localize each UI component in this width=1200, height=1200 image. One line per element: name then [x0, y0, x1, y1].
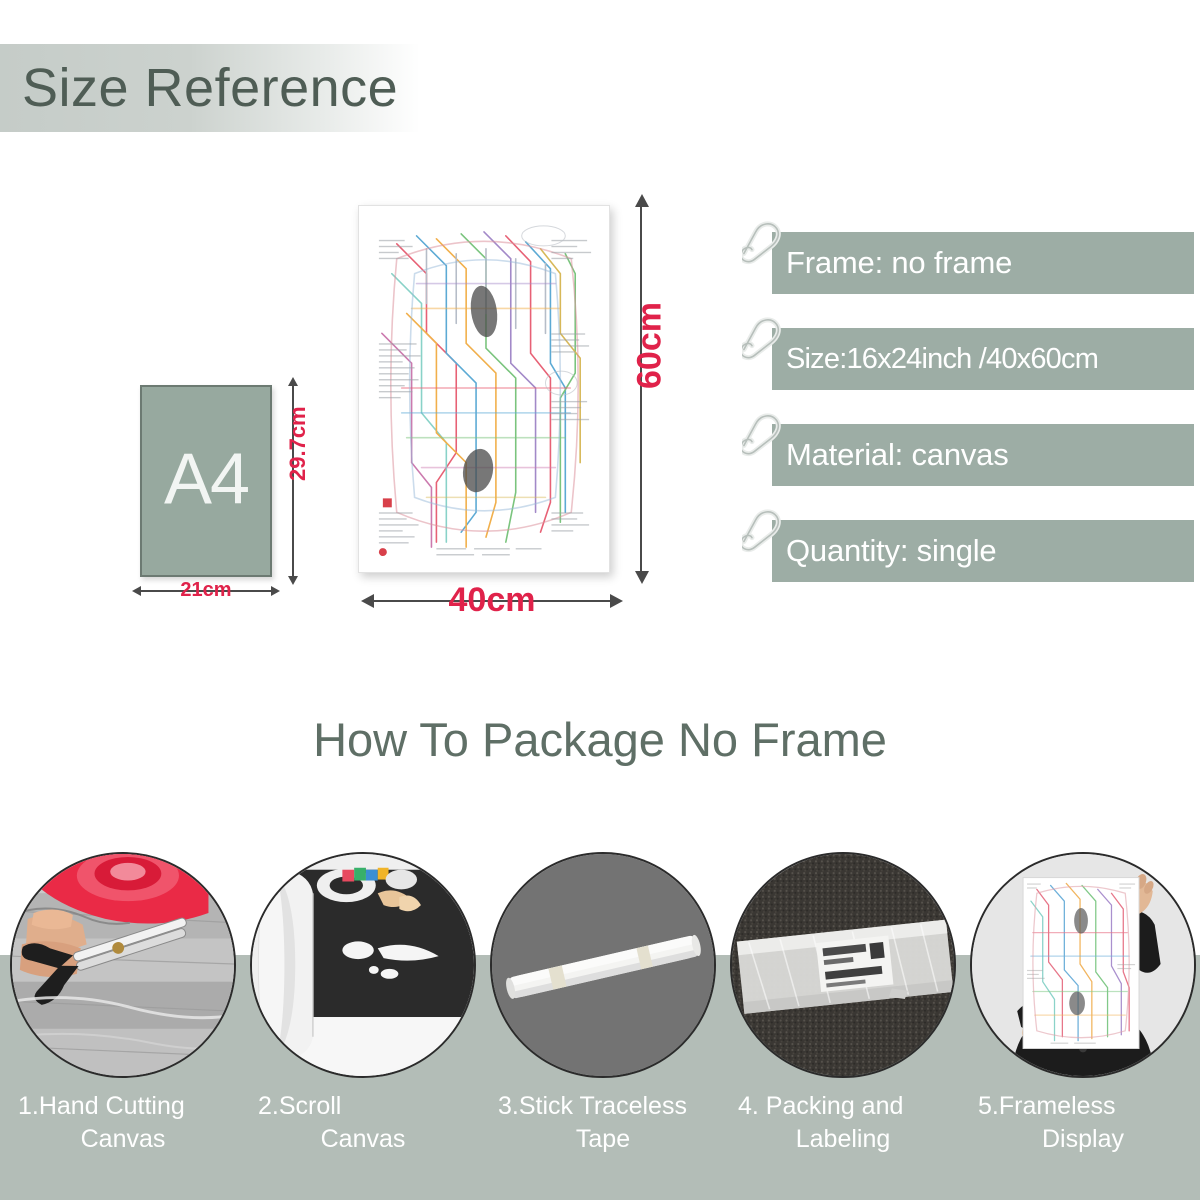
a4-label: A4	[142, 444, 270, 516]
specification-list: Frame: no frame Size:16x24inch /40x60cm …	[742, 218, 1194, 602]
spec-label-material: Material: canvas	[772, 437, 1009, 473]
arrow-head-up	[635, 194, 649, 207]
spec-label-quantity: Quantity: single	[772, 533, 996, 569]
step-2-caption: 2.Scroll Canvas	[250, 1090, 476, 1156]
spec-label-frame: Frame: no frame	[772, 245, 1012, 281]
arrow-head-left	[361, 594, 374, 608]
poster-reference-block: 60cm 40cm	[358, 205, 610, 573]
package-step-3: 3.Stick Traceless Tape	[490, 852, 716, 1078]
a4-height-label: 29.7cm	[285, 406, 311, 481]
step1-illustration	[12, 854, 234, 1076]
step-4-caption: 4. Packing and Labeling	[730, 1090, 956, 1156]
spec-row-quantity: Quantity: single	[742, 506, 1194, 602]
step-1-caption: 1.Hand Cutting Canvas	[10, 1090, 236, 1156]
package-step-2: 2.Scroll Canvas	[250, 852, 476, 1078]
step2-illustration	[252, 854, 474, 1076]
a4-box: A4	[140, 385, 272, 577]
spec-row-material: Material: canvas	[742, 410, 1194, 506]
frameless-display-photo	[970, 852, 1196, 1078]
step-1-line2: Canvas	[10, 1123, 236, 1156]
step-1-line1: 1.Hand Cutting	[10, 1090, 236, 1123]
package-step-5: 5.Frameless Display	[970, 852, 1196, 1078]
step-2-line1: 2.Scroll	[250, 1090, 476, 1123]
step-5-line2: Display	[970, 1123, 1196, 1156]
paperclip-icon	[742, 506, 796, 568]
scroll-canvas-photo	[250, 852, 476, 1078]
arrow-head-right	[271, 586, 280, 596]
package-step-4: 4. Packing and Labeling	[730, 852, 956, 1078]
packing-labeling-photo	[730, 852, 956, 1078]
arrow-head-down	[635, 571, 649, 584]
howto-package-title: How To Package No Frame	[0, 712, 1200, 767]
arrow-head-up	[288, 377, 298, 386]
arrow-head-down	[288, 576, 298, 585]
step-5-line1: 5.Frameless	[970, 1090, 1196, 1123]
step-3-line1: 3.Stick Traceless	[490, 1090, 716, 1123]
a4-reference-block: A4 29.7cm 21cm	[140, 385, 272, 577]
spec-band: Quantity: single	[772, 520, 1194, 582]
spec-band: Frame: no frame	[772, 232, 1194, 294]
subway-map-artwork	[367, 214, 601, 564]
step-2-line2: Canvas	[250, 1123, 476, 1156]
paperclip-icon	[742, 218, 796, 280]
traceless-tape-photo	[490, 852, 716, 1078]
step-4-line1: 4. Packing and	[730, 1090, 956, 1123]
step5-illustration	[972, 854, 1194, 1076]
package-step-1: 1.Hand Cutting Canvas	[10, 852, 236, 1078]
spec-band: Size:16x24inch /40x60cm	[772, 328, 1194, 390]
spec-row-size: Size:16x24inch /40x60cm	[742, 314, 1194, 410]
paperclip-icon	[742, 410, 796, 472]
spec-label-size: Size:16x24inch /40x60cm	[772, 343, 1098, 376]
arrow-head-right	[610, 594, 623, 608]
page-title: Size Reference	[22, 52, 398, 124]
a4-width-label: 21cm	[180, 579, 231, 602]
arrow-head-left	[132, 586, 141, 596]
poster-width-label: 40cm	[449, 581, 536, 620]
step4-illustration	[732, 854, 954, 1076]
step-3-line2: Tape	[490, 1123, 716, 1156]
step3-illustration	[492, 854, 714, 1076]
spec-row-frame: Frame: no frame	[742, 218, 1194, 314]
paperclip-icon	[742, 314, 796, 376]
poster-image	[358, 205, 610, 573]
step-5-caption: 5.Frameless Display	[970, 1090, 1196, 1156]
hand-cutting-canvas-photo	[10, 852, 236, 1078]
step-3-caption: 3.Stick Traceless Tape	[490, 1090, 716, 1156]
poster-height-arrow	[640, 205, 642, 573]
poster-height-label: 60cm	[631, 302, 670, 389]
spec-band: Material: canvas	[772, 424, 1194, 486]
step-4-line2: Labeling	[730, 1123, 956, 1156]
